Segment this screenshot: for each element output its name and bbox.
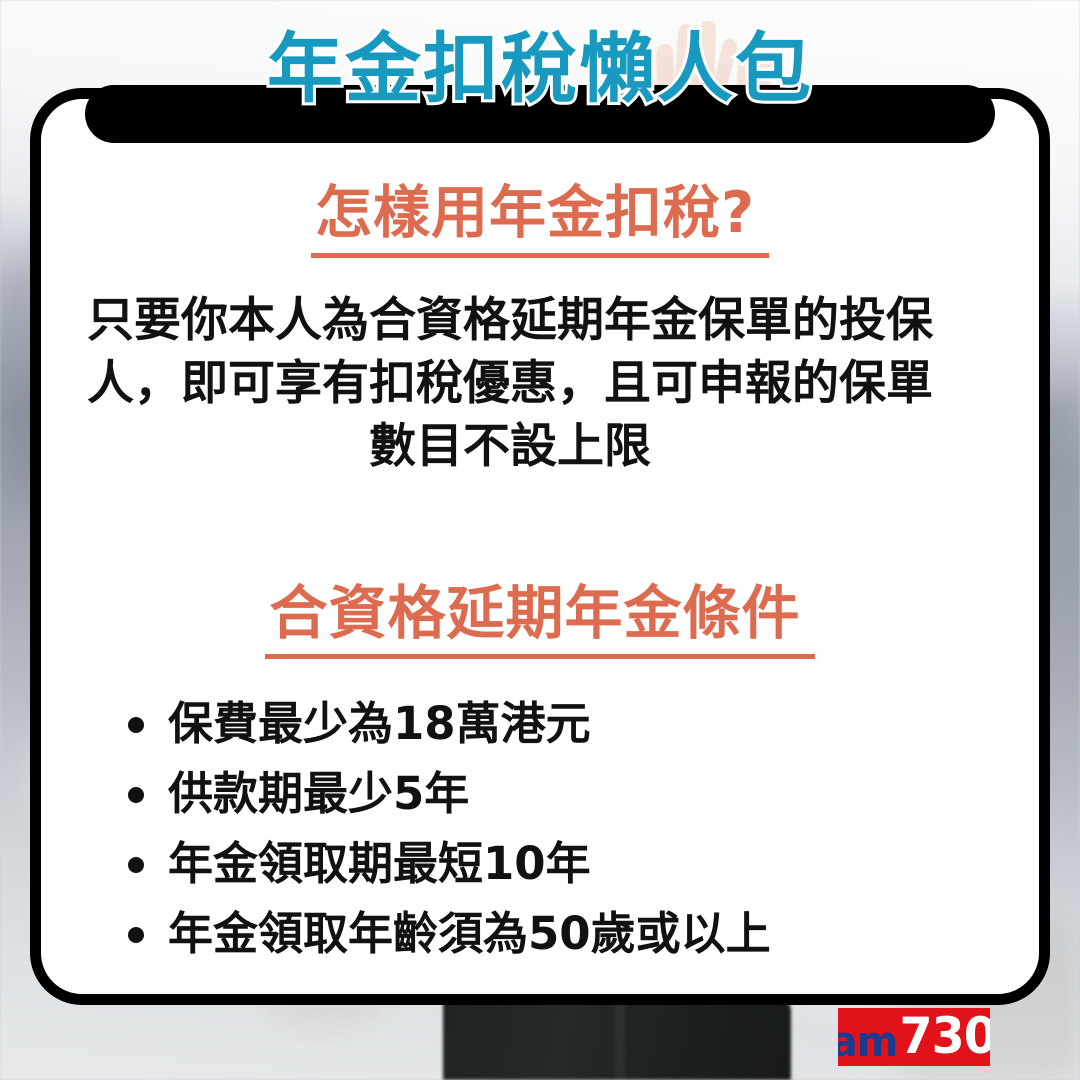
poster-root: 年金扣稅懶人包 怎樣用年金扣稅? 只要你本人為合資格延期年金保單的投保人，即可享…: [0, 0, 1080, 1080]
section-heading-conditions: 合資格延期年金條件: [0, 580, 1080, 659]
logo-number: 730: [900, 1011, 990, 1061]
am730-logo: am 730: [838, 1008, 990, 1066]
conditions-list: 保費最少為18萬港元 供款期最少5年 年金領取期最短10年 年金領取年齡須為50…: [120, 695, 771, 975]
bullet-dot-icon: [128, 927, 144, 943]
list-item-label: 年金領取年齡須為50歲或以上: [168, 907, 771, 960]
logo-prefix: am: [838, 1021, 898, 1063]
bullet-dot-icon: [128, 857, 144, 873]
list-item-label: 供款期最少5年: [168, 767, 469, 820]
section-heading-how-to: 怎樣用年金扣稅?: [0, 181, 1080, 258]
bullet-dot-icon: [128, 787, 144, 803]
person-silhouette: [443, 1000, 791, 1080]
list-item-label: 年金領取期最短10年: [168, 837, 591, 890]
list-item: 年金領取期最短10年: [120, 835, 771, 892]
body-paragraph: 只要你本人為合資格延期年金保單的投保人，即可享有扣稅優惠，且可申報的保單數目不設…: [82, 289, 938, 478]
list-item-label: 保費最少為18萬港元: [168, 697, 591, 750]
section-heading-how-to-text: 怎樣用年金扣稅?: [311, 181, 769, 258]
section-heading-conditions-text: 合資格延期年金條件: [265, 580, 814, 659]
bullet-dot-icon: [128, 717, 144, 733]
main-title: 年金扣稅懶人包: [0, 26, 1080, 112]
list-item: 供款期最少5年: [120, 765, 771, 822]
list-item: 保費最少為18萬港元: [120, 695, 771, 752]
list-item: 年金領取年齡須為50歲或以上: [120, 905, 771, 962]
